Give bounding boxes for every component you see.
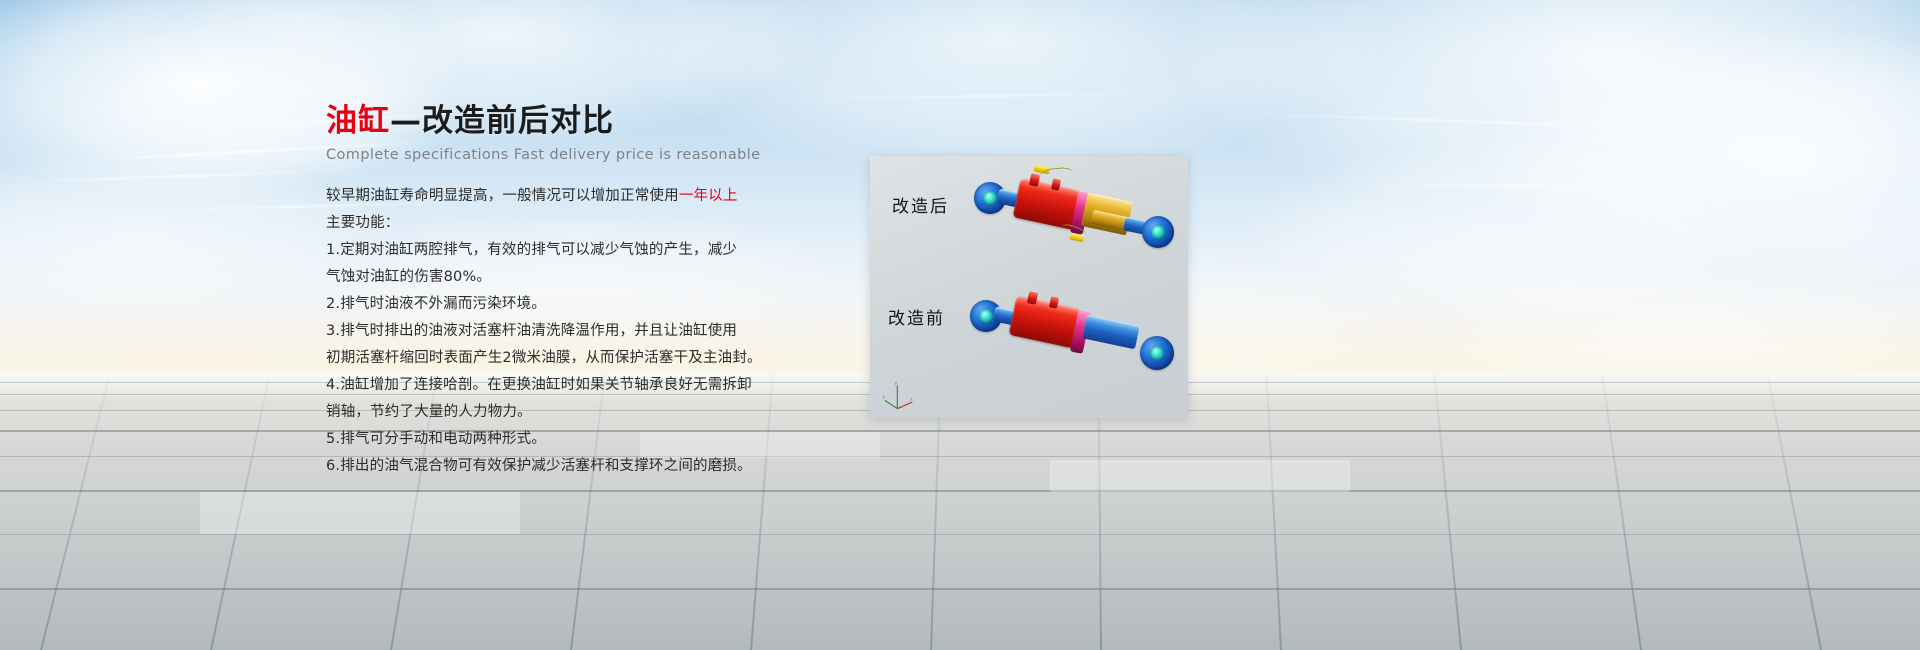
cloud-streak — [760, 91, 1180, 101]
cylinder-assembly-after — [974, 164, 1180, 284]
feature-line-text: 3.排气时排出的油液对活塞杆油清洗降温作用，并且让油缸使用 — [326, 323, 737, 339]
feature-line-text: 较早期油缸寿命明显提高，一般情况可以增加正常使用 — [326, 188, 679, 204]
product-image-panel: 改造后 改造前 — [870, 156, 1188, 418]
svg-text:X: X — [882, 396, 885, 400]
cloud-shape — [1480, 30, 1920, 290]
cloud-streak — [1320, 181, 1740, 191]
cloud-shape — [0, 150, 380, 320]
feature-line-text: 初期活塞杆缩回时表面产生2微米油膜，从而保护活塞干及主油封。 — [326, 350, 762, 366]
cloud-streak — [1230, 112, 1710, 132]
feature-line-text: 1.定期对油缸两腔排气，有效的排气可以减少气蚀的产生，减少 — [326, 242, 737, 258]
svg-text:Y: Y — [911, 397, 914, 401]
pavement-line — [0, 534, 1920, 535]
feature-line: 气蚀对油缸的伤害80%。 — [326, 264, 826, 291]
feature-list: 较早期油缸寿命明显提高，一般情况可以增加正常使用一年以上 主要功能： 1.定期对… — [326, 183, 826, 480]
feature-line-highlight: 一年以上 — [679, 188, 738, 204]
page-title: 油缸—改造前后对比 — [326, 104, 826, 140]
feature-line: 销轴，节约了大量的人力物力。 — [326, 399, 826, 426]
cylinder-barrel — [1009, 296, 1082, 349]
pavement-perspective-line — [40, 380, 109, 650]
feature-line: 较早期油缸寿命明显提高，一般情况可以增加正常使用一年以上 — [326, 183, 826, 210]
feature-line: 6.排出的油气混合物可有效保护减少活塞杆和支撑环之间的磨损。 — [326, 453, 826, 480]
feature-line-text: 2.排气时油液不外漏而污染环境。 — [326, 296, 546, 312]
feature-line: 初期活塞杆缩回时表面产生2微米油膜，从而保护活塞干及主油封。 — [326, 345, 826, 372]
feature-line-text: 4.油缸增加了连接哈剖。在更换油缸时如果关节轴承良好无需拆卸 — [326, 377, 752, 393]
rod-eye-right — [1140, 336, 1174, 370]
feature-line-text: 5.排气可分手动和电动两种形式。 — [326, 431, 546, 447]
coordinate-axis-icon: Z X Y — [882, 382, 916, 412]
piston-rod-right — [1082, 315, 1140, 350]
page-title-highlight: 油缸 — [326, 103, 390, 139]
feature-line: 1.定期对油缸两腔排气，有效的排气可以减少气蚀的产生，减少 — [326, 237, 826, 264]
label-after-modification: 改造后 — [892, 192, 949, 217]
cloud-shape — [1250, 140, 1770, 320]
feature-line: 5.排气可分手动和电动两种形式。 — [326, 426, 826, 453]
pavement-perspective-line — [1433, 373, 1462, 650]
cloud-streak — [10, 169, 340, 184]
page-title-rest: —改造前后对比 — [390, 103, 614, 139]
cloud-shape — [1180, 0, 1920, 220]
vent-hose — [1039, 166, 1075, 187]
pavement-perspective-line — [1767, 377, 1822, 650]
rod-eye-right — [1142, 216, 1174, 248]
feature-line-text: 气蚀对油缸的伤害80%。 — [326, 269, 491, 285]
label-before-modification: 改造前 — [888, 304, 945, 329]
pavement-line — [0, 456, 1920, 457]
hero-text-block: 油缸—改造前后对比 Complete specifications Fast d… — [326, 104, 826, 480]
feature-line: 主要功能： — [326, 210, 826, 237]
pavement-perspective-line — [1601, 375, 1642, 650]
pavement-tile-highlight — [200, 492, 520, 534]
pavement-tile-highlight — [1050, 460, 1350, 492]
pavement-line — [0, 430, 1920, 432]
feature-line-text: 主要功能： — [326, 215, 400, 231]
feature-line-text: 6.排出的油气混合物可有效保护减少活塞杆和支撑环之间的磨损。 — [326, 458, 752, 474]
feature-line-text: 销轴，节约了大量的人力物力。 — [326, 404, 532, 420]
cylinder-assembly-before — [970, 284, 1182, 410]
svg-text:Z: Z — [895, 382, 898, 386]
feature-line: 3.排气时排出的油液对活塞杆油清洗降温作用，并且让油缸使用 — [326, 318, 826, 345]
page-subtitle: Complete specifications Fast delivery pr… — [326, 147, 826, 163]
feature-line: 4.油缸增加了连接哈剖。在更换油缸时如果关节轴承良好无需拆卸 — [326, 372, 826, 399]
feature-line: 2.排气时油液不外漏而污染环境。 — [326, 291, 826, 318]
hero-banner: 油缸—改造前后对比 Complete specifications Fast d… — [0, 0, 1920, 650]
pavement-perspective-line — [1265, 372, 1282, 650]
